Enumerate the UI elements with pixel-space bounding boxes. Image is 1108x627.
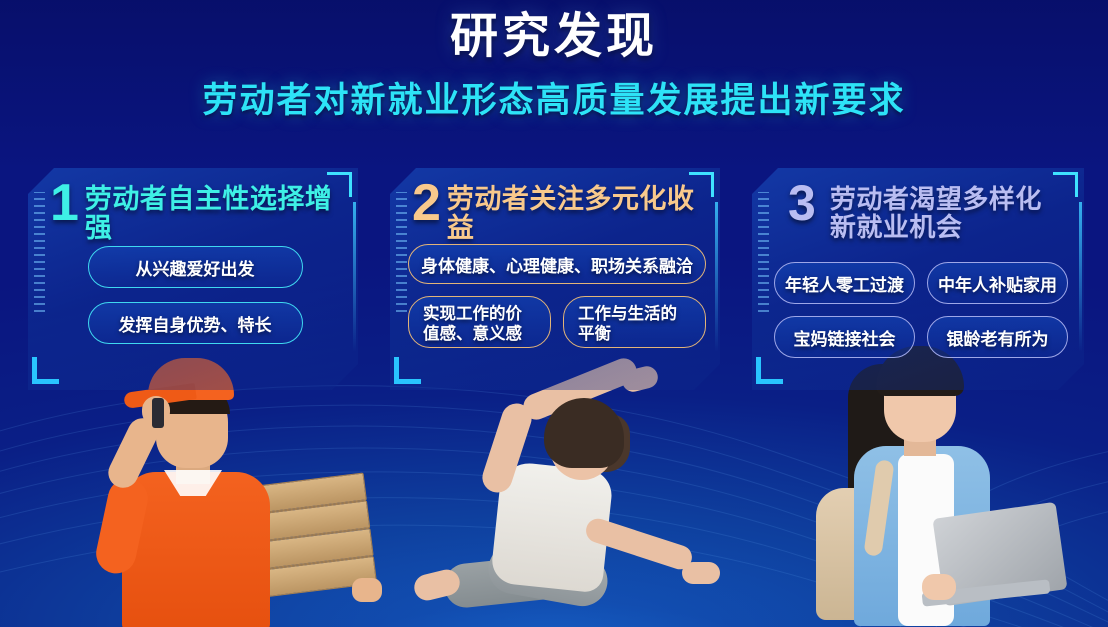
page-title: 研究发现 — [0, 12, 1108, 62]
edge-accent-line — [353, 202, 356, 352]
delivery-worker-photo — [60, 352, 360, 627]
card-3-pill-4[interactable]: 银龄老有所为 — [927, 316, 1068, 358]
card-2-header: 2 劳动者关注多元化收益 — [412, 180, 704, 243]
card-1-pill-1[interactable]: 从兴趣爱好出发 — [88, 246, 303, 288]
card-1-title: 劳动者自主性选择增强 — [85, 180, 342, 243]
edge-accent-line — [1079, 202, 1082, 352]
card-2-pill-list: 身体健康、心理健康、职场关系融洽 实现工作的价值感、意义感 工作与生活的平衡 — [408, 244, 706, 348]
card-3-number: 3 — [788, 180, 816, 226]
infographic-poster: 研究发现 劳动者对新就业形态高质量发展提出新要求 1 劳动者自主性选择增强 从兴… — [0, 0, 1108, 627]
card-3-pill-row-1: 年轻人零工过渡 中年人补贴家用 — [774, 262, 1068, 304]
card-2-pill-row: 实现工作的价值感、意义感 工作与生活的平衡 — [408, 296, 706, 348]
card-1-pill-2[interactable]: 发挥自身优势、特长 — [88, 302, 303, 344]
page-subtitle: 劳动者对新就业形态高质量发展提出新要求 — [0, 72, 1108, 123]
card-3-pill-row-2: 宝妈链接社会 银龄老有所为 — [774, 316, 1068, 358]
finding-card-3[interactable]: 3 劳动者渴望多样化新就业机会 年轻人零工过渡 中年人补贴家用 宝妈链接社会 银… — [752, 168, 1084, 390]
card-3-title: 劳动者渴望多样化新就业机会 — [830, 180, 1068, 241]
mobile-phone — [152, 398, 164, 428]
card-3-pill-3[interactable]: 宝妈链接社会 — [774, 316, 915, 358]
corner-bracket-bottom-left-icon — [32, 357, 59, 384]
poster-heading-group: 研究发现 劳动者对新就业形态高质量发展提出新要求 — [0, 12, 1108, 123]
card-3-pill-2[interactable]: 中年人补贴家用 — [927, 262, 1068, 304]
card-3-pill-list: 年轻人零工过渡 中年人补贴家用 宝妈链接社会 银龄老有所为 — [774, 262, 1068, 370]
card-1-pill-list: 从兴趣爱好出发 发挥自身优势、特长 — [50, 246, 340, 358]
card-2-pill-3[interactable]: 工作与生活的平衡 — [563, 296, 706, 348]
hand-holding-laptop — [922, 574, 956, 600]
card-2-title: 劳动者关注多元化收益 — [447, 180, 704, 243]
finding-card-1[interactable]: 1 劳动者自主性选择增强 从兴趣爱好出发 发挥自身优势、特长 — [28, 168, 358, 390]
card-2-number: 2 — [412, 180, 441, 228]
edge-accent-line — [715, 202, 718, 352]
corner-bracket-bottom-left-icon — [394, 357, 421, 384]
hair — [544, 398, 624, 468]
hatch-stripes-decoration — [34, 192, 45, 312]
yoga-stretching-woman-photo — [400, 362, 720, 627]
supporting-hand — [352, 578, 382, 602]
card-3-pill-1[interactable]: 年轻人零工过渡 — [774, 262, 915, 304]
card-2-pill-2[interactable]: 实现工作的价值感、意义感 — [408, 296, 551, 348]
supporting-hand — [682, 562, 720, 584]
card-2-pill-1[interactable]: 身体健康、心理健康、职场关系融洽 — [408, 244, 706, 284]
findings-card-group: 1 劳动者自主性选择增强 从兴趣爱好出发 发挥自身优势、特长 2 劳动者关注多元… — [0, 168, 1108, 393]
finding-card-2[interactable]: 2 劳动者关注多元化收益 身体健康、心理健康、职场关系融洽 实现工作的价值感、意… — [390, 168, 720, 390]
card-3-header: 3 劳动者渴望多样化新就业机会 — [788, 180, 1068, 241]
hatch-stripes-decoration — [758, 192, 769, 312]
hatch-stripes-decoration — [396, 192, 407, 312]
card-1-header: 1 劳动者自主性选择增强 — [50, 180, 342, 243]
card-1-number: 1 — [50, 180, 79, 228]
